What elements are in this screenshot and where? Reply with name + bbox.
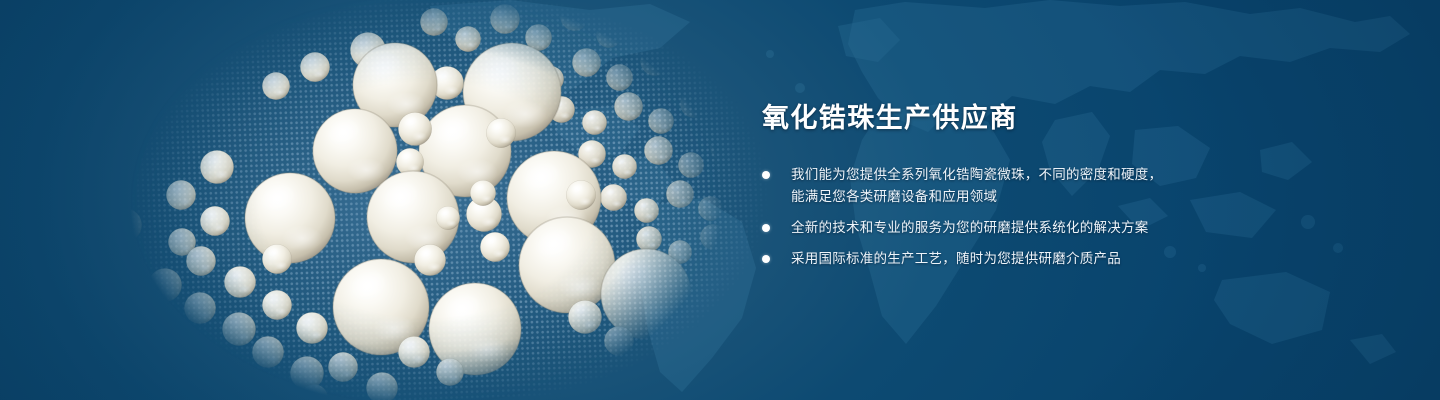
- dot-bullet-icon: [762, 224, 770, 232]
- banner-copy: 氧化锆珠生产供应商 我们能为您提供全系列氧化锆陶瓷微珠，不同的密度和硬度， 能满…: [762, 104, 1322, 270]
- dot-bullet-icon: [762, 171, 770, 179]
- list-item: 全新的技术和专业的服务为您的研磨提供系统化的解决方案: [762, 217, 1322, 239]
- page-title: 氧化锆珠生产供应商: [762, 104, 1322, 134]
- bullet-line: 全新的技术和专业的服务为您的研磨提供系统化的解决方案: [791, 217, 1322, 239]
- bullet-line: 采用国际标准的生产工艺，随时为您提供研磨介质产品: [791, 248, 1322, 270]
- dot-bullet-icon: [762, 255, 770, 263]
- zirconia-beads-image: [0, 0, 790, 400]
- list-item: 我们能为您提供全系列氧化锆陶瓷微珠，不同的密度和硬度， 能满足您各类研磨设备和应…: [762, 164, 1322, 208]
- feature-bullet-list: 我们能为您提供全系列氧化锆陶瓷微珠，不同的密度和硬度， 能满足您各类研磨设备和应…: [762, 164, 1322, 270]
- bullet-line: 我们能为您提供全系列氧化锆陶瓷微珠，不同的密度和硬度，: [791, 164, 1322, 186]
- hero-banner: 氧化锆珠生产供应商 我们能为您提供全系列氧化锆陶瓷微珠，不同的密度和硬度， 能满…: [0, 0, 1440, 400]
- list-item: 采用国际标准的生产工艺，随时为您提供研磨介质产品: [762, 248, 1322, 270]
- bullet-line: 能满足您各类研磨设备和应用领域: [791, 186, 1322, 208]
